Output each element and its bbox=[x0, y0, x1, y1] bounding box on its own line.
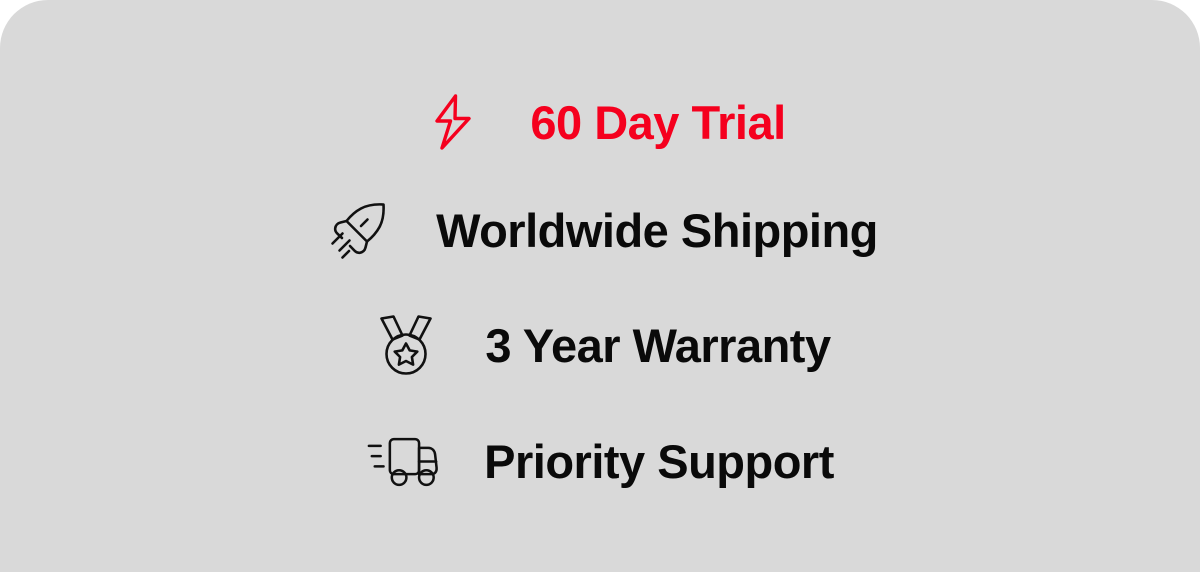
feature-row-support: Priority Support bbox=[0, 425, 1200, 497]
delivery-truck-icon bbox=[366, 425, 440, 497]
feature-badges-panel: 60 Day Trial Worldwide Shipping bbox=[0, 0, 1200, 572]
medal-star-icon bbox=[369, 309, 443, 381]
feature-label-trial: 60 Day Trial bbox=[530, 99, 785, 146]
rocket-icon bbox=[322, 194, 396, 266]
feature-label-shipping: Worldwide Shipping bbox=[436, 207, 878, 254]
feature-label-warranty: 3 Year Warranty bbox=[485, 322, 830, 369]
feature-label-support: Priority Support bbox=[484, 438, 834, 485]
lightning-bolt-icon bbox=[414, 86, 488, 158]
feature-row-warranty: 3 Year Warranty bbox=[0, 309, 1200, 381]
feature-row-shipping: Worldwide Shipping bbox=[0, 194, 1200, 266]
feature-row-trial: 60 Day Trial bbox=[0, 86, 1200, 158]
